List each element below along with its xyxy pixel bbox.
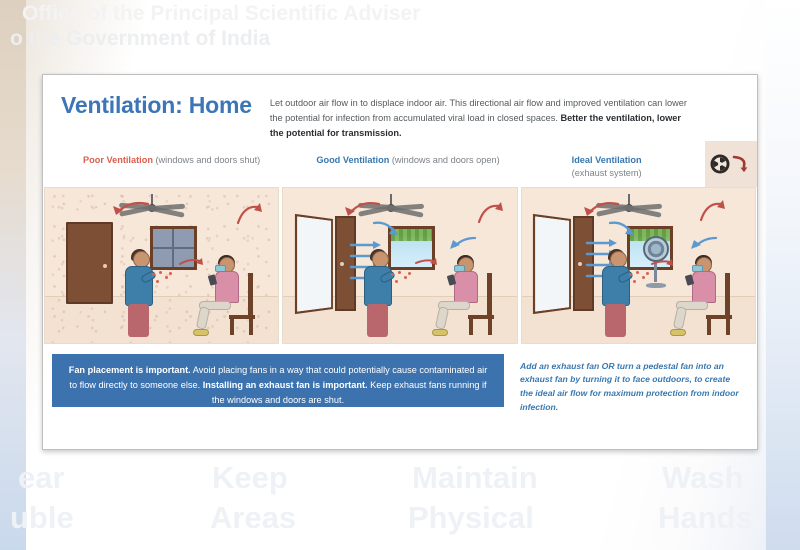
red-droplet-arrow [414, 256, 438, 268]
illustration-panels [43, 187, 757, 344]
watermark-bottom-1a: ear [18, 460, 65, 496]
card-header: Ventilation: Home Let outdoor air flow i… [43, 75, 757, 141]
watermark-bottom-2a: Keep [212, 460, 288, 496]
column-header-ideal-strong: Ideal Ventilation [572, 155, 642, 165]
droplets-icon [390, 271, 412, 285]
person-coughing [594, 251, 640, 337]
panel-poor-ventilation [44, 187, 279, 344]
open-door [295, 219, 356, 309]
blue-airflow-arrow [608, 219, 638, 241]
person-seated [674, 257, 734, 335]
red-airflow-arrow [697, 200, 727, 224]
blue-airflow-arrow [447, 234, 477, 254]
watermark-bottom-4a: Wash [662, 460, 744, 496]
column-header-poor: Poor Ventilation (windows and doors shut… [43, 154, 278, 187]
column-header-ideal-muted: (exhaust system) [572, 168, 642, 178]
panel-good-ventilation [282, 187, 517, 344]
blue-airflow-arrow [372, 219, 402, 241]
column-headers: Poor Ventilation (windows and doors shut… [43, 141, 757, 187]
red-droplet-arrow [650, 257, 674, 269]
column-header-good-muted: (windows and doors open) [389, 155, 499, 165]
red-airflow-arrow [106, 200, 152, 226]
closed-door [66, 222, 113, 304]
exhaust-fan-icon [708, 151, 754, 177]
watermark-bottom-2b: Areas [210, 500, 296, 536]
banner-bold-1: Fan placement is important. [69, 365, 191, 375]
column-header-good: Good Ventilation (windows and doors open… [278, 154, 509, 187]
person-coughing [117, 251, 163, 337]
watermark-top-line2: o the Government of India [10, 27, 270, 51]
watermark-bottom-3b: Physical [408, 500, 534, 536]
fan-placement-banner: Fan placement is important. Avoid placin… [52, 354, 504, 407]
blue-airflow-arrow [688, 234, 718, 254]
watermark-bottom-3a: Maintain [412, 460, 538, 496]
card-footer: Fan placement is important. Avoid placin… [43, 344, 757, 416]
banner-bold-2: Installing an exhaust fan is important. [203, 380, 368, 390]
column-header-good-strong: Good Ventilation [316, 155, 389, 165]
person-seated [436, 257, 496, 335]
exhaust-fan-swatch [705, 141, 757, 187]
exhaust-fan-note: Add an exhaust fan OR turn a pedestal fa… [514, 354, 748, 407]
droplets-icon [151, 271, 173, 285]
red-airflow-arrow [475, 202, 505, 226]
person-coughing [356, 251, 402, 337]
page-title: Ventilation: Home [61, 92, 252, 141]
person-seated [197, 257, 257, 335]
watermark-top-line1: Office of the Principal Scientific Advis… [22, 2, 420, 26]
red-airflow-arrow [234, 203, 264, 227]
panel-ideal-ventilation [521, 187, 756, 344]
column-header-poor-muted: (windows and doors shut) [153, 155, 260, 165]
column-header-poor-strong: Poor Ventilation [83, 155, 153, 165]
intro-paragraph: Let outdoor air flow in to displace indo… [270, 92, 690, 141]
ventilation-infographic-card: Ventilation: Home Let outdoor air flow i… [42, 74, 758, 450]
watermark-bottom-1b: uble [10, 500, 74, 536]
droplets-icon [628, 271, 650, 285]
presentation-slide: Office of the Principal Scientific Advis… [0, 0, 800, 550]
watermark-bottom-4b: Hands [658, 500, 753, 536]
